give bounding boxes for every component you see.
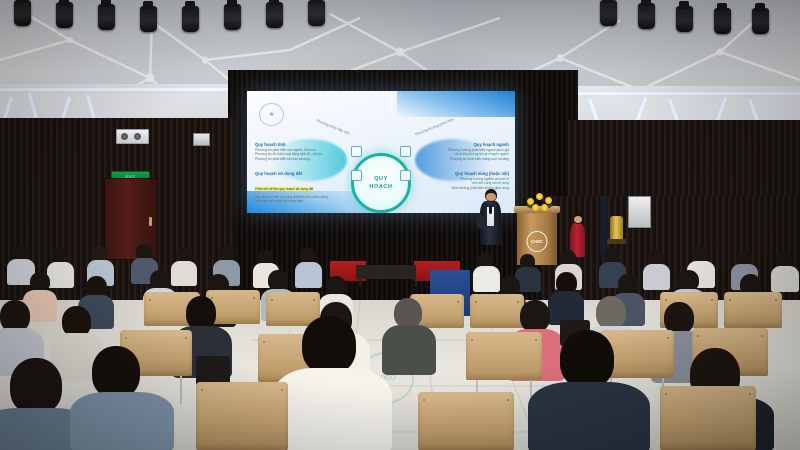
slide-emblem-icon: ★ [259, 103, 284, 126]
stage-spotlight [638, 3, 655, 29]
flower-icon [536, 193, 543, 200]
slide-text-block: Quy hoạch sử dụng đất Phân bổ chỉ tiêu q… [255, 171, 347, 204]
slide-text-block: Quy hoạch tỉnh Phương án phát triển các … [255, 142, 347, 161]
slide-emblem-label: ★ [269, 111, 274, 118]
slide-block-title: Quy hoạch sử dụng đất [255, 171, 347, 176]
audience-chair-foreground[interactable] [418, 392, 514, 450]
stage-spotlight [676, 6, 693, 32]
slide-text-block: Quy hoạch ngành Phương hướng phát triển … [417, 142, 509, 161]
chair-leg [180, 376, 182, 404]
stage-spotlight [14, 0, 31, 26]
podium-logo-label: CHSC [531, 239, 543, 244]
wall-control-panel [193, 133, 210, 146]
podium-logo-icon: CHSC [527, 231, 548, 252]
stage-spotlight [600, 0, 617, 26]
audience-chair-foreground[interactable] [196, 382, 288, 450]
stage-spotlight [752, 8, 769, 34]
stage-spotlight [182, 6, 199, 32]
flower-arrangement [525, 191, 555, 215]
gold-statue [610, 216, 623, 240]
slide-block-line: Phương án phát triển kết cấu hạ tầng [255, 157, 347, 161]
projection-screen: ★ Phương pháp tiếp cận Phương hướng phát… [247, 91, 515, 213]
stage-spotlight [308, 0, 325, 26]
stage-spotlight [266, 2, 283, 28]
slide-diagonal-right: Phương hướng phát triển [415, 117, 454, 136]
flower-icon [532, 204, 539, 211]
stage-spotlight [140, 6, 157, 32]
microphone-icon [489, 205, 492, 214]
stage-spotlight [224, 4, 241, 30]
stage-spotlight [714, 8, 731, 34]
door-handle-icon [149, 217, 152, 226]
host-face [574, 216, 582, 223]
audience-chair-foreground[interactable] [660, 386, 756, 450]
slide-node-icon [400, 170, 411, 181]
slide-block-title: Quy hoạch vùng (hoặc nội) [417, 171, 509, 176]
slide-node-icon [351, 146, 362, 157]
slide-block-line-highlight: Phân bổ chỉ tiêu quy hoạch sử dụng đất [255, 187, 313, 191]
slide-block-line: Phương án phát triển mạng lưới hạ tầng [417, 157, 509, 161]
wall-speaker-unit [116, 129, 149, 144]
neon-strip [574, 92, 800, 95]
slide-center-title-2: HOẠCH [369, 183, 392, 191]
slide-node-icon [351, 170, 362, 181]
slide-center-title-1: QUY [374, 175, 388, 183]
flower-icon [541, 204, 548, 211]
slide-diagonal-left: Phương pháp tiếp cận [316, 118, 351, 135]
slide-node-icon [400, 146, 411, 157]
wall-column-accent [600, 196, 608, 256]
presenter-face [486, 193, 496, 201]
slide-text-block: Quy hoạch vùng (hoặc nội) Phương hướng n… [417, 171, 509, 190]
neon-strip [0, 88, 228, 91]
audience-chair[interactable] [466, 332, 542, 380]
flower-icon [545, 197, 552, 204]
audience-chair[interactable] [470, 294, 524, 328]
slide-center-node: QUY HOẠCH [351, 153, 411, 213]
stage-bench [356, 265, 416, 279]
stage-spotlight [98, 4, 115, 30]
slide-block-title: Quy hoạch ngành [417, 142, 509, 147]
slide-block-line: Kế hoạch sử dụng đất hằng năm [255, 199, 347, 203]
audience-chair[interactable] [724, 292, 782, 328]
wall-notice-panel [628, 196, 651, 228]
conference-hall-photo: EXIT ★ Phương pháp tiếp cận Phương hướng… [0, 0, 800, 450]
slide-gradient-top [397, 91, 515, 117]
slide-block-title: Quy hoạch tỉnh [255, 142, 347, 147]
stage-spotlight [56, 2, 73, 28]
slide-block-line: Định hướng phát triển không gian vùng [417, 186, 509, 190]
